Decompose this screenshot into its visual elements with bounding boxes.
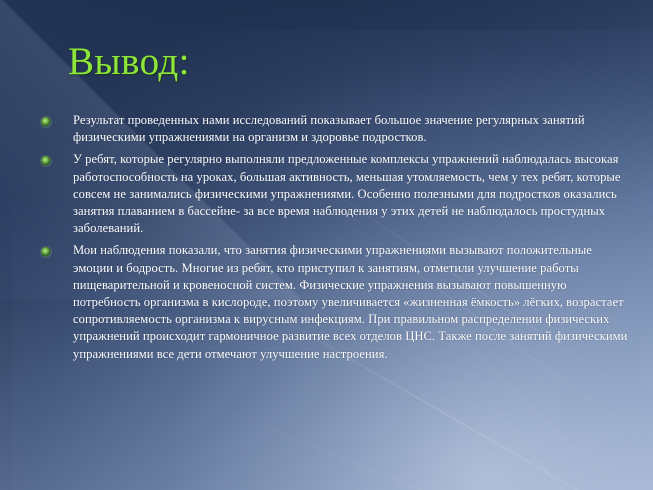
presentation-slide: Вывод: Результат проведенных нами исслед… <box>0 0 653 490</box>
list-item-text: Мои наблюдения показали, что занятия физ… <box>73 242 631 362</box>
list-item-text: Результат проведенных нами исследований … <box>73 112 631 146</box>
ring-bullet-icon <box>41 117 51 127</box>
ring-bullet-icon <box>41 156 51 166</box>
bullet-list: Результат проведенных нами исследований … <box>36 112 631 368</box>
list-item: Мои наблюдения показали, что занятия физ… <box>36 242 631 362</box>
ring-bullet-icon <box>41 247 51 257</box>
slide-content: Вывод: Результат проведенных нами исслед… <box>0 0 653 490</box>
list-item: У ребят, которые регулярно выполняли пре… <box>36 151 631 237</box>
list-item: Результат проведенных нами исследований … <box>36 112 631 146</box>
slide-title: Вывод: <box>68 42 190 83</box>
list-item-text: У ребят, которые регулярно выполняли пре… <box>73 151 631 237</box>
